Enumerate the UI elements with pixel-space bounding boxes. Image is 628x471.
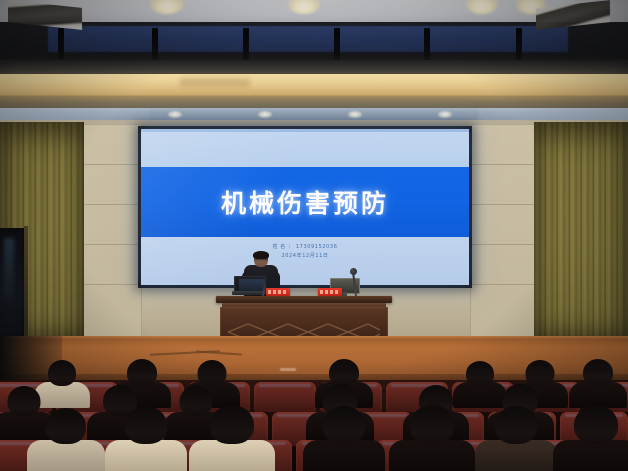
slide-subtitle-date: 2024年12月11日: [141, 252, 469, 259]
audience-member-head: [46, 408, 86, 444]
slide-subtitle-presenter: 姓 名 ： 17309152036: [141, 243, 469, 250]
audience-member-body: [553, 440, 628, 471]
laptop-keyboard-base: [232, 291, 266, 295]
audience-member: [553, 405, 628, 471]
placard-lettering: [268, 290, 288, 294]
downlight-1: [258, 111, 272, 118]
wall-seam-left-0: [80, 164, 142, 165]
wall-seam-left-1: [80, 204, 142, 205]
audience-member-head: [323, 406, 365, 444]
doorway-frame: [24, 226, 28, 346]
wood-slat-wall-right: [534, 122, 628, 344]
audience-member-body: [389, 440, 475, 471]
seat-highlight: [259, 384, 311, 387]
audience-member-head: [574, 405, 618, 444]
audience-member: [189, 405, 275, 471]
truss-post-1: [152, 28, 158, 62]
audience-member: [303, 406, 385, 471]
audience-member-body: [105, 440, 187, 471]
audience-member-head: [198, 360, 227, 386]
laptop: [232, 276, 266, 296]
audience-member-head: [329, 359, 359, 386]
podium-front-face: [220, 307, 388, 339]
audience-member-head: [210, 405, 254, 444]
audience-member-body: [27, 440, 105, 471]
audience-member-head: [410, 405, 454, 444]
audience-member: [475, 406, 557, 471]
truss-post-0: [58, 28, 64, 62]
cove-light-band: [0, 74, 628, 96]
audience-member-head: [495, 406, 537, 444]
wall-panel-left: [80, 124, 142, 340]
audience-member-body: [303, 440, 385, 471]
blue-valance-curtain: [48, 26, 568, 52]
wall-panel-right: [470, 124, 536, 340]
downlight-3: [438, 111, 452, 118]
podium-desktop-surface: [216, 296, 392, 303]
wall-seam-left-3: [80, 284, 142, 285]
downlight-2: [348, 111, 362, 118]
slide-top-accent-line: [141, 129, 469, 132]
truss-post-2: [243, 28, 249, 62]
audience-member-head: [48, 360, 76, 386]
placard-lettering: [320, 290, 340, 294]
truss-post-3: [334, 28, 340, 62]
audience-member: [389, 405, 475, 471]
audience-member-body: [475, 440, 557, 471]
slide-band-top: [141, 129, 469, 167]
stage-floor-marking: [280, 368, 296, 371]
wall-seam-right-0: [470, 164, 536, 165]
wall-seam-right-3: [470, 284, 536, 285]
audience-member-head: [583, 359, 613, 386]
cove-light-smudge: [180, 78, 250, 87]
doorway-glow: [4, 238, 14, 308]
microphone-head: [350, 268, 357, 275]
downlight-0: [168, 111, 182, 118]
wall-seam-right-2: [470, 244, 536, 245]
name-placard-right: [318, 288, 342, 296]
truss-post-5: [516, 28, 522, 62]
audience-member: [105, 406, 187, 471]
speaker-hair: [253, 251, 269, 259]
audience-member-head: [466, 361, 494, 386]
projection-screen: 机械伤害预防 姓 名 ： 17309152036 2024年12月11日: [141, 129, 469, 285]
audience-member-head: [127, 359, 157, 386]
name-placard-left: [266, 288, 290, 296]
laptop-screen: [239, 279, 265, 291]
audience-member-head: [125, 406, 167, 444]
slide-title: 机械伤害预防: [141, 167, 469, 237]
audience-member: [27, 408, 105, 471]
truss-post-4: [424, 28, 430, 62]
auditorium-scene: 机械伤害预防 姓 名 ： 17309152036 2024年12月11日: [0, 0, 628, 471]
audience-member-head: [526, 360, 555, 386]
audience-member-body: [189, 440, 275, 471]
wall-seam-left-2: [80, 244, 142, 245]
wall-seam-right-1: [470, 204, 536, 205]
